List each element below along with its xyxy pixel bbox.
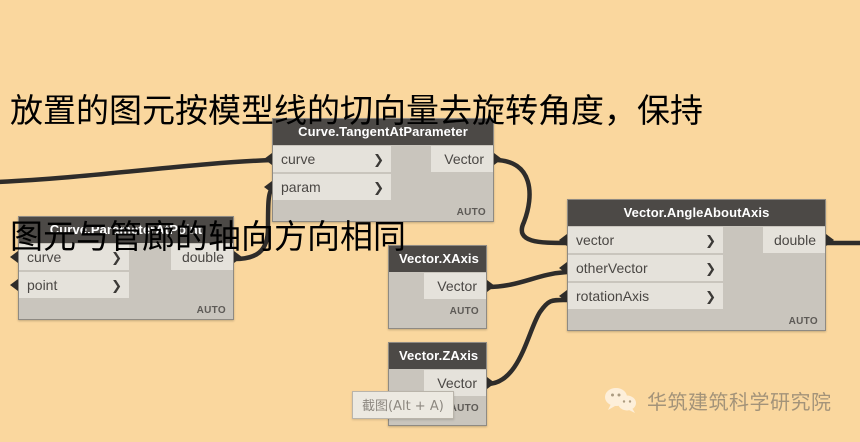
screenshot-shortcut-tooltip: 截图(Alt + A) xyxy=(352,391,454,419)
screenshot-shortcut-tooltip-label: 截图(Alt + A) xyxy=(362,399,444,414)
page-title: 放置的图元按模型线的切向量去旋转角度，保持 图元与管廊的轴向方向相同 xyxy=(0,0,860,350)
output-connector-nub-vector[interactable] xyxy=(487,377,495,389)
output-port-label-vector: Vector xyxy=(437,375,477,391)
page-title-line-2: 图元与管廊的轴向方向相同 xyxy=(10,216,850,258)
watermark-label: 华筑建筑科学研究院 xyxy=(647,386,832,415)
auto-badge: AUTO xyxy=(450,403,479,414)
watermark: 华筑建筑科学研究院 xyxy=(604,386,832,415)
page-title-line-1: 放置的图元按模型线的切向量去旋转角度，保持 xyxy=(10,90,850,132)
wechat-logo-icon xyxy=(604,387,638,415)
dynamo-graph-canvas: 放置的图元按模型线的切向量去旋转角度，保持 图元与管廊的轴向方向相同 Curve… xyxy=(0,0,860,442)
